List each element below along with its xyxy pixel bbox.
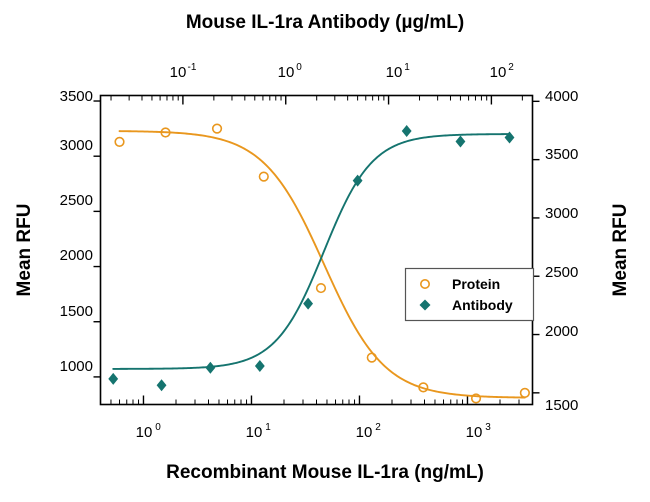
chart-container: Mouse IL-1ra Antibody (µg/mL) 10 -1 10 0… — [0, 0, 650, 502]
right-tick-label-4: 2000 — [545, 323, 578, 340]
bottom-tick-exp-3: 3 — [485, 422, 491, 433]
bottom-tick-base-2: 10 — [356, 424, 373, 441]
datapoint-protein-5 — [367, 353, 376, 362]
chart-svg: Mouse IL-1ra Antibody (µg/mL) 10 -1 10 0… — [0, 0, 650, 502]
datapoint-antibody-2 — [205, 362, 215, 374]
datapoint-antibody-1 — [157, 379, 167, 391]
top-tick-label-2: 10 1 — [386, 62, 411, 81]
bottom-axis-tick-labels: 10 0 10 1 10 2 10 3 — [136, 422, 492, 441]
datapoint-antibody-0 — [108, 373, 118, 385]
top-axis-title: Mouse IL-1ra Antibody (µg/mL) — [186, 12, 464, 33]
datapoint-protein-2 — [213, 124, 222, 133]
top-axis-tick-labels: 10 -1 10 0 10 1 10 2 — [170, 62, 515, 81]
data-series-layer — [108, 124, 529, 402]
top-tick-exp-1: 0 — [296, 62, 302, 73]
top-tick-base-3: 10 — [490, 64, 507, 81]
datapoint-protein-6 — [419, 383, 428, 392]
bottom-tick-base-0: 10 — [136, 424, 153, 441]
bottom-tick-label-2: 10 2 — [356, 422, 382, 441]
bottom-tick-label-0: 10 0 — [136, 422, 162, 441]
top-tick-base-0: 10 — [170, 64, 187, 81]
legend-label-antibody: Antibody — [452, 297, 513, 313]
curve-protein — [120, 131, 525, 397]
datapoint-antibody-7 — [456, 136, 466, 148]
bottom-tick-exp-2: 2 — [375, 422, 381, 433]
bottom-tick-base-1: 10 — [246, 424, 263, 441]
bottom-tick-exp-1: 1 — [265, 422, 271, 433]
bottom-tick-label-1: 10 1 — [246, 422, 272, 441]
left-tick-label-2: 2500 — [60, 192, 93, 209]
datapoint-protein-7 — [472, 394, 481, 403]
top-tick-exp-3: 2 — [508, 62, 514, 73]
datapoint-protein-8 — [521, 389, 530, 398]
top-tick-label-3: 10 2 — [490, 62, 515, 81]
right-tick-label-1: 3500 — [545, 146, 578, 163]
datapoint-protein-3 — [259, 172, 268, 181]
right-tick-label-0: 4000 — [545, 88, 578, 105]
left-tick-label-0: 3500 — [60, 88, 93, 105]
datapoint-protein-4 — [317, 284, 326, 293]
legend-label-protein: Protein — [452, 276, 500, 292]
legend: Protein Antibody — [406, 269, 534, 321]
left-axis-tick-labels: 3500 3000 2500 2000 1500 1000 — [60, 88, 93, 375]
left-axis-title: Mean RFU — [14, 204, 35, 297]
left-tick-label-5: 1000 — [60, 358, 93, 375]
top-tick-label-0: 10 -1 — [170, 62, 197, 81]
top-tick-exp-2: 1 — [404, 62, 410, 73]
top-tick-base-1: 10 — [278, 64, 295, 81]
series-protein — [115, 124, 529, 402]
datapoint-antibody-4 — [303, 298, 313, 310]
right-tick-label-3: 2500 — [545, 264, 578, 281]
bottom-tick-label-3: 10 3 — [466, 422, 492, 441]
right-axis-title: Mean RFU — [610, 204, 631, 297]
top-tick-label-1: 10 0 — [278, 62, 303, 81]
datapoint-antibody-3 — [255, 360, 265, 372]
datapoint-protein-0 — [115, 138, 124, 147]
top-tick-exp-0: -1 — [188, 62, 197, 73]
bottom-tick-exp-0: 0 — [155, 422, 161, 433]
left-tick-label-3: 2000 — [60, 247, 93, 264]
bottom-axis-title: Recombinant Mouse IL-1ra (ng/mL) — [166, 462, 484, 483]
datapoint-antibody-6 — [402, 125, 412, 137]
left-tick-label-1: 3000 — [60, 137, 93, 154]
datapoint-protein-1 — [161, 128, 170, 137]
right-tick-label-5: 1500 — [545, 397, 578, 414]
top-tick-base-2: 10 — [386, 64, 403, 81]
curve-antibody — [113, 134, 509, 369]
left-tick-label-4: 1500 — [60, 303, 93, 320]
right-axis-tick-labels: 4000 3500 3000 2500 2000 1500 — [545, 88, 578, 414]
right-tick-label-2: 3000 — [545, 205, 578, 222]
bottom-tick-base-3: 10 — [466, 424, 483, 441]
series-antibody — [108, 125, 514, 391]
